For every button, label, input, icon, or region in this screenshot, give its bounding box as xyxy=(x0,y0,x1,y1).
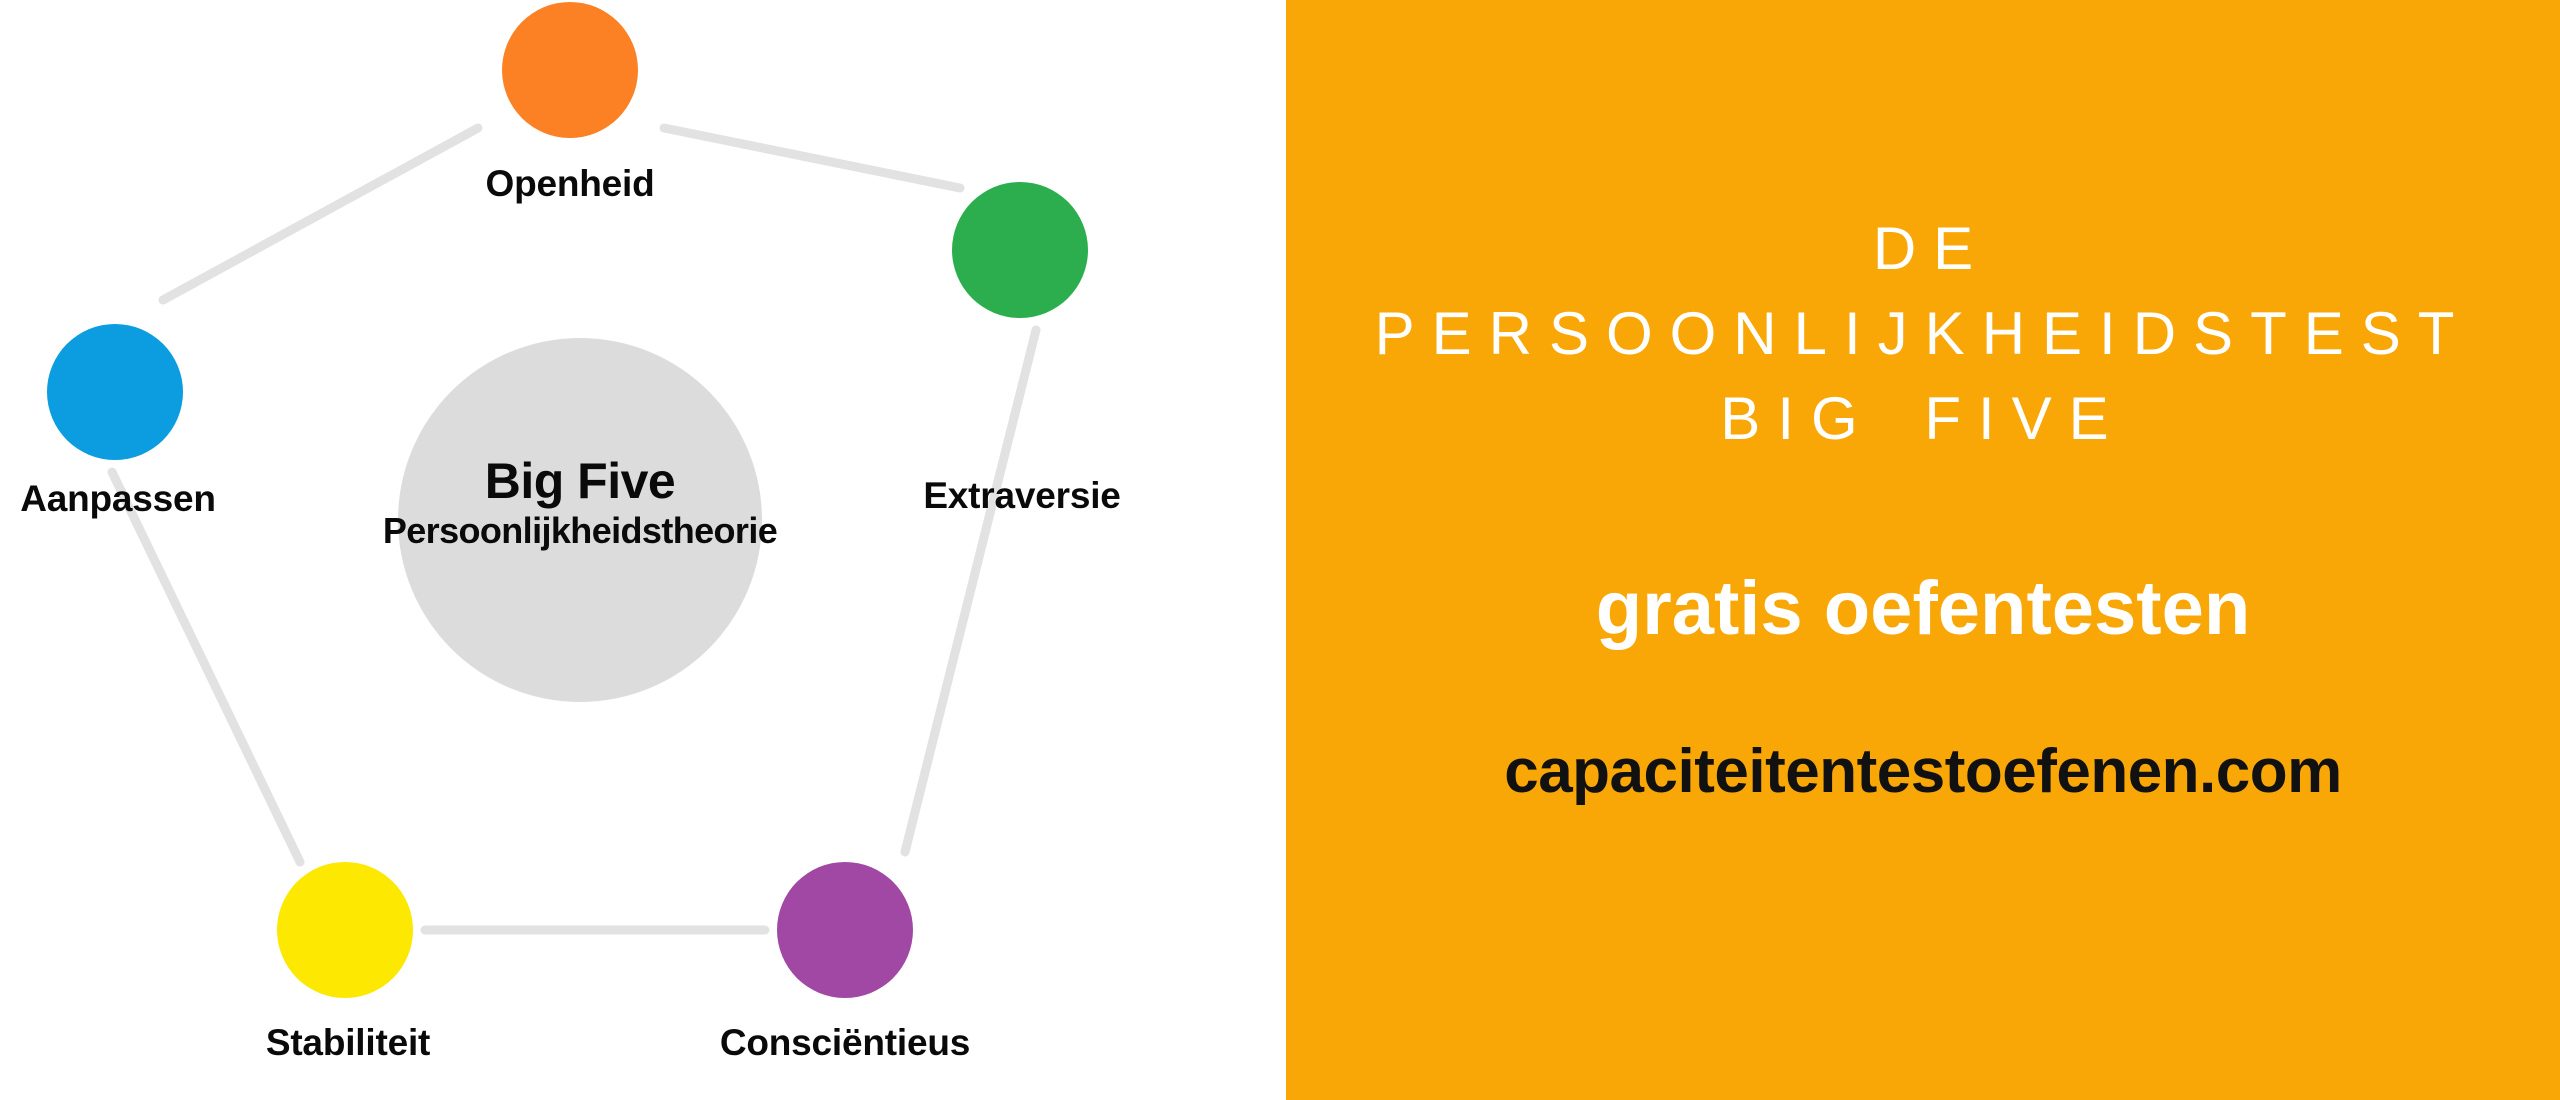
connector-extraversie-conscientieus xyxy=(905,330,1036,852)
trait-circle-conscientieus xyxy=(777,862,913,998)
connector-aanpassen-openheid xyxy=(163,128,478,300)
connector-openheid-extraversie xyxy=(664,128,960,188)
promo-panel: DE PERSOONLIJKHEIDSTEST BIG FIVE gratis … xyxy=(1286,0,2560,1100)
trait-label-stabiliteit: Stabiliteit xyxy=(266,1022,430,1064)
trait-circle-openheid xyxy=(502,2,638,138)
trait-label-extraversie: Extraversie xyxy=(923,475,1120,517)
trait-circle-extraversie xyxy=(952,182,1088,318)
trait-circle-aanpassen xyxy=(47,324,183,460)
trait-circle-stabiliteit xyxy=(277,862,413,998)
promo-url[interactable]: capaciteitentestoefenen.com xyxy=(1323,737,2523,807)
promo-banner: Big Five Persoonlijkheidstheorie Openhei… xyxy=(0,0,2560,1100)
trait-label-openheid: Openheid xyxy=(485,163,654,205)
center-circle xyxy=(398,338,762,702)
connector-stabiliteit-aanpassen xyxy=(112,472,300,862)
promo-subheading: gratis oefentesten xyxy=(1333,567,2513,651)
trait-label-aanpassen: Aanpassen xyxy=(20,478,216,520)
big-five-diagram: Big Five Persoonlijkheidstheorie Openhei… xyxy=(0,0,1286,1100)
promo-heading: DE PERSOONLIJKHEIDSTEST BIG FIVE xyxy=(1343,206,2503,461)
trait-label-conscientieus: Consciëntieus xyxy=(720,1022,970,1064)
